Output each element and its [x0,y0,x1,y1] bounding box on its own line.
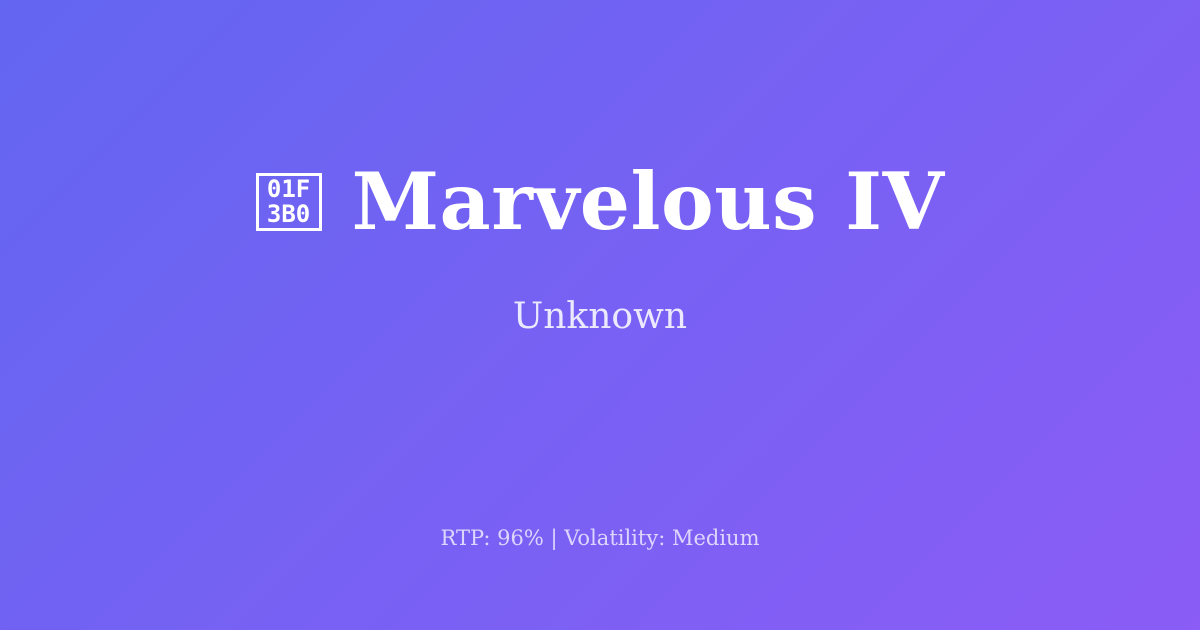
hero-block: 01F 3B0 Marvelous IV Unknown [0,0,1200,497]
footer-meta-bar: RTP: 96% | Volatility: Medium [0,528,1200,549]
title-row: 01F 3B0 Marvelous IV [256,162,945,241]
og-preview-card: 01F 3B0 Marvelous IV Unknown RTP: 96% | … [0,0,1200,630]
tofu-codepoint-bottom: 3B0 [267,202,310,227]
page-subtitle: Unknown [513,241,687,335]
slot-machine-icon: 01F 3B0 [256,173,322,231]
game-stats-line: RTP: 96% | Volatility: Medium [0,528,1200,549]
tofu-codepoint-top: 01F [267,177,310,202]
page-title: Marvelous IV [352,162,945,241]
